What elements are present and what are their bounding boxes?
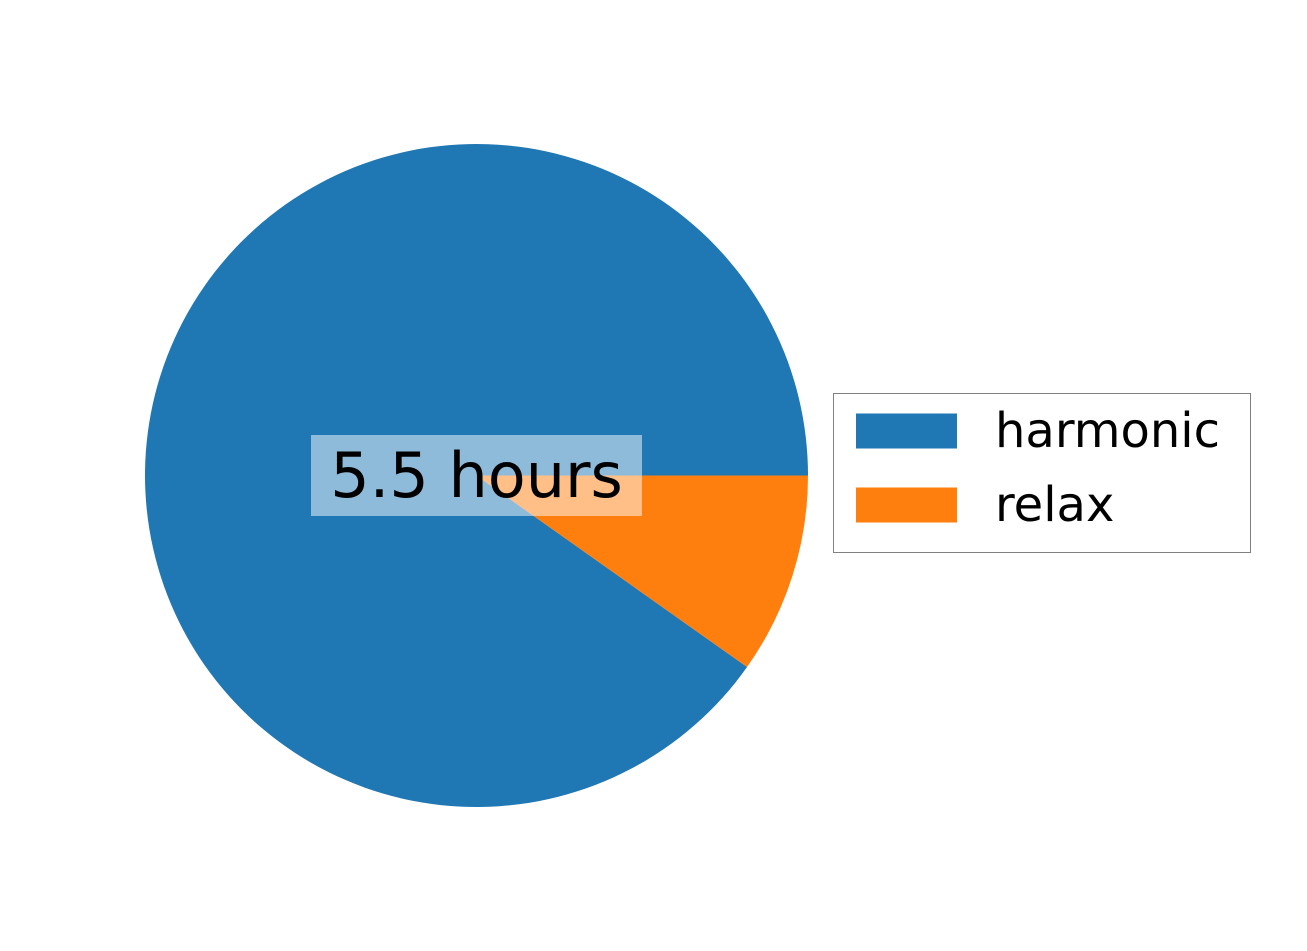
legend-entry-harmonic[interactable]: harmonic	[834, 394, 1250, 468]
pie-chart-figure: 5.5 hours harmonic relax	[0, 0, 1307, 951]
legend-swatch-harmonic	[856, 414, 957, 449]
pie-slice-harmonic[interactable]	[145, 144, 808, 807]
legend-label-relax: relax	[995, 481, 1114, 529]
legend: harmonic relax	[833, 393, 1251, 553]
legend-label-harmonic: harmonic	[995, 407, 1220, 455]
legend-swatch-relax	[856, 488, 957, 523]
legend-entry-relax[interactable]: relax	[834, 468, 1250, 542]
